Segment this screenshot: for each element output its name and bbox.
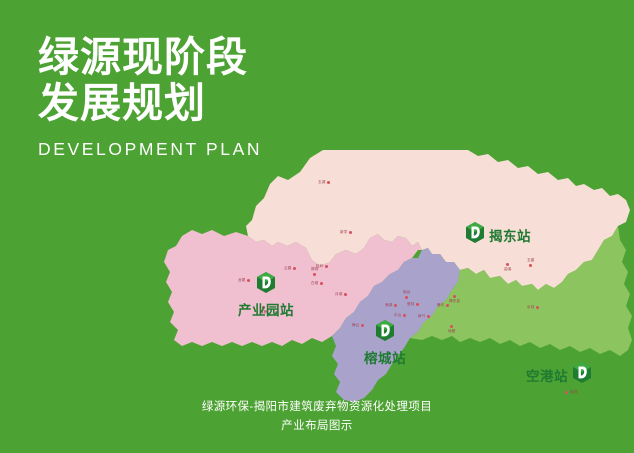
- city-label: 玉窖: [527, 258, 534, 263]
- city-marker-dot: [529, 264, 532, 267]
- city-marker-dot: [446, 304, 449, 307]
- city-dot: 月城: [335, 292, 347, 297]
- city-marker-dot: [325, 265, 328, 268]
- city-label: 锡场: [311, 267, 318, 272]
- city-marker-dot: [344, 293, 347, 296]
- city-dot: 白塔: [311, 281, 323, 286]
- city-marker-dot: [506, 263, 509, 266]
- city-marker-dot: [320, 282, 323, 285]
- city-label: 白塔: [311, 281, 318, 286]
- caption-line1: 绿源环保-揭阳市建筑废弃物资源化处理项目: [0, 398, 634, 417]
- city-dot: 梅云: [352, 323, 364, 328]
- city-marker-dot: [536, 306, 539, 309]
- city-marker-dot: [327, 181, 330, 184]
- city-dot: 揭东县: [449, 295, 460, 304]
- lvyuan-logo-icon: [376, 320, 394, 346]
- city-label: 新亨: [340, 230, 347, 235]
- city-marker-dot: [405, 296, 408, 299]
- city-dot: 京冈: [527, 305, 539, 310]
- city-marker-dot: [394, 304, 397, 307]
- page-title-line2: 发展规划: [38, 80, 262, 126]
- station-label-chanyeyuan: 产业园站: [238, 299, 294, 319]
- caption-line2: 产业布局图示: [0, 417, 634, 436]
- city-marker-dot: [313, 273, 316, 276]
- station-label-rongcheng: 榕城站: [364, 347, 406, 367]
- lvyuan-logo-icon: [573, 362, 591, 388]
- city-dot: 地都: [448, 325, 455, 334]
- page-title-line1: 绿源现阶段: [38, 34, 262, 80]
- city-label: 坪郊: [570, 390, 577, 395]
- lvyuan-logo-icon: [257, 272, 275, 298]
- city-dot: 玉湖: [318, 180, 330, 185]
- city-dot: 登岗: [407, 302, 419, 307]
- city-label: 地都: [448, 329, 455, 334]
- city-dot: 新兴: [418, 314, 430, 319]
- city-dot: 炮台: [403, 290, 410, 299]
- city-marker-dot: [450, 325, 453, 328]
- city-label: 曲溪: [504, 267, 511, 272]
- station-marker-konggang[interactable]: 空港站: [526, 362, 591, 388]
- city-label: 新兴: [418, 314, 425, 319]
- station-marker-chanyeyuan[interactable]: 产业园站: [238, 272, 294, 319]
- city-dot: 坪郊: [565, 390, 577, 395]
- city-dot: 新亨: [340, 230, 352, 235]
- city-marker-dot: [427, 315, 430, 318]
- city-dot: 玉窖: [527, 258, 534, 267]
- city-label: 登岗: [407, 302, 414, 307]
- city-label: 京冈: [527, 305, 534, 310]
- city-label: 炮台: [403, 290, 410, 295]
- city-dot: 锡场: [311, 267, 318, 276]
- city-dot: 渔湖: [385, 303, 397, 308]
- city-label: 月城: [335, 292, 342, 297]
- city-marker-dot: [403, 314, 406, 317]
- city-label: 揭东县: [449, 299, 460, 304]
- city-label: 云路: [284, 266, 291, 271]
- city-marker-dot: [349, 231, 352, 234]
- city-marker-dot: [416, 303, 419, 306]
- city-label: 玉湖: [318, 180, 325, 185]
- city-label: 中山: [394, 313, 401, 318]
- station-label-jiedong: 揭东站: [489, 225, 531, 245]
- station-label-konggang: 空港站: [526, 365, 568, 385]
- slide-canvas: 绿源现阶段 发展规划 DEVELOPMENT PLAN 玉湖新亨桂岭锡场云路白塔…: [0, 0, 634, 453]
- title-block: 绿源现阶段 发展规划 DEVELOPMENT PLAN: [38, 34, 262, 160]
- city-dot: 磐东: [437, 303, 449, 308]
- city-label: 磐东: [437, 303, 444, 308]
- city-label: 渔湖: [385, 303, 392, 308]
- caption-block: 绿源环保-揭阳市建筑废弃物资源化处理项目 产业布局图示: [0, 398, 634, 436]
- city-marker-dot: [565, 391, 568, 394]
- city-marker-dot: [293, 267, 296, 270]
- city-dot: 云路: [284, 266, 296, 271]
- station-marker-rongcheng[interactable]: 榕城站: [364, 320, 406, 367]
- lvyuan-logo-icon: [466, 222, 484, 248]
- page-subtitle-english: DEVELOPMENT PLAN: [38, 139, 262, 160]
- city-marker-dot: [453, 295, 456, 298]
- station-marker-jiedong[interactable]: 揭东站: [466, 222, 531, 248]
- city-dot: 中山: [394, 313, 406, 318]
- city-dot: 曲溪: [504, 263, 511, 272]
- city-label: 梅云: [352, 323, 359, 328]
